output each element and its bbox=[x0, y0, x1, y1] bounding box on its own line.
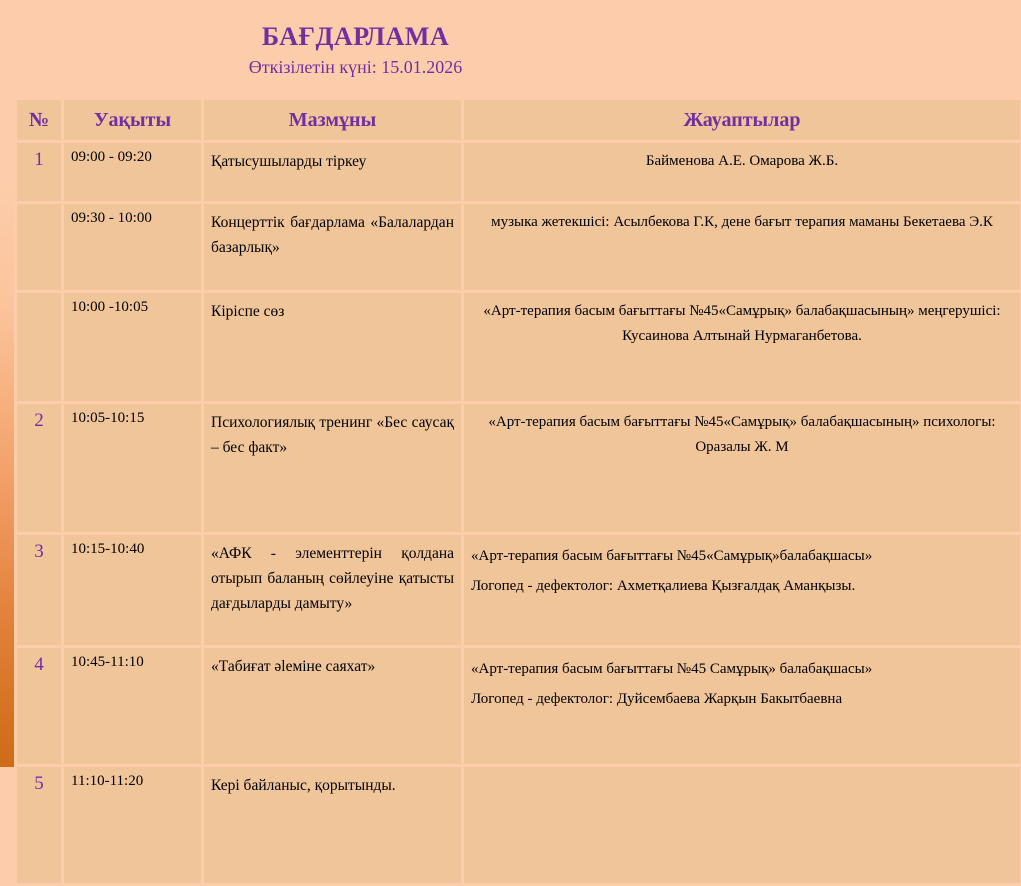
cell-number bbox=[17, 204, 61, 290]
cell-content: Қатысушыларды тіркеу bbox=[204, 143, 461, 201]
cell-time: 10:15-10:40 bbox=[64, 535, 201, 645]
table-row: 3 10:15-10:40 «АФК - элементтерін қолдан… bbox=[17, 535, 1020, 645]
cell-time: 10:05-10:15 bbox=[64, 404, 201, 532]
cell-number: 3 bbox=[17, 535, 61, 645]
cell-content: «АФК - элементтерін қолдана отырып балан… bbox=[204, 535, 461, 645]
cell-responsible: «Арт-терапия басым бағыттағы №45«Самұрық… bbox=[464, 404, 1020, 532]
cell-content: Концерттік бағдарлама «Балалардан базарл… bbox=[204, 204, 461, 290]
cell-responsible: Байменова А.Е. Омарова Ж.Б. bbox=[464, 143, 1020, 201]
column-header-time: Уақыты bbox=[64, 100, 201, 140]
cell-number: 4 bbox=[17, 648, 61, 764]
table-row: 1 09:00 - 09:20 Қатысушыларды тіркеу Бай… bbox=[17, 143, 1020, 201]
cell-number bbox=[17, 293, 61, 401]
page-subtitle: Өткізілетін күні: 15.01.2026 bbox=[0, 56, 1021, 78]
responsible-line: Логопед - дефектолог: Ахметқалиева Қызға… bbox=[471, 571, 1013, 601]
responsible-line: «Арт-терапия басым бағыттағы №45«Самұрық… bbox=[471, 299, 1013, 349]
cell-number: 5 bbox=[17, 767, 61, 883]
cell-time: 10:45-11:10 bbox=[64, 648, 201, 764]
cell-responsible bbox=[464, 767, 1020, 883]
cell-responsible: «Арт-терапия басым бағыттағы №45 Самұрық… bbox=[464, 648, 1020, 764]
cell-time: 10:00 -10:05 bbox=[64, 293, 201, 401]
responsible-line: музыка жетекшісі: Асылбекова Г.К, дене б… bbox=[471, 210, 1013, 235]
slide-canvas: БАҒДАРЛАМА Өткізілетін күні: 15.01.2026 … bbox=[0, 0, 1021, 767]
responsible-line: «Арт-терапия басым бағыттағы №45«Самұрық… bbox=[471, 410, 1013, 460]
responsible-line: «Арт-терапия басым бағыттағы №45«Самұрық… bbox=[471, 541, 1013, 571]
cell-time: 09:30 - 10:00 bbox=[64, 204, 201, 290]
responsible-line: Логопед - дефектолог: Дуйсембаева Жарқын… bbox=[471, 684, 1013, 714]
title-block: БАҒДАРЛАМА Өткізілетін күні: 15.01.2026 bbox=[0, 22, 1021, 78]
page-title: БАҒДАРЛАМА bbox=[0, 22, 1021, 52]
column-header-responsible: Жауаптылар bbox=[464, 100, 1020, 140]
responsible-line: Байменова А.Е. Омарова Ж.Б. bbox=[471, 149, 1013, 174]
cell-content: Кіріспе сөз bbox=[204, 293, 461, 401]
cell-time: 11:10-11:20 bbox=[64, 767, 201, 883]
responsible-line: «Арт-терапия басым бағыттағы №45 Самұрық… bbox=[471, 654, 1013, 684]
cell-number: 2 bbox=[17, 404, 61, 532]
cell-number: 1 bbox=[17, 143, 61, 201]
program-table: № Уақыты Мазмұны Жауаптылар 1 09:00 - 09… bbox=[14, 97, 1021, 886]
table-row: 2 10:05-10:15 Психологиялық тренинг «Бес… bbox=[17, 404, 1020, 532]
table-row: 10:00 -10:05 Кіріспе сөз «Арт-терапия ба… bbox=[17, 293, 1020, 401]
cell-time: 09:00 - 09:20 bbox=[64, 143, 201, 201]
column-header-number: № bbox=[17, 100, 61, 140]
table-row: 09:30 - 10:00 Концерттік бағдарлама «Бал… bbox=[17, 204, 1020, 290]
cell-content: Кері байланыс, қорытынды. bbox=[204, 767, 461, 883]
table-row: 5 11:10-11:20 Кері байланыс, қорытынды. bbox=[17, 767, 1020, 883]
table-header-row: № Уақыты Мазмұны Жауаптылар bbox=[17, 100, 1020, 140]
table-row: 4 10:45-11:10 «Табиғат әleміне саяхат» «… bbox=[17, 648, 1020, 764]
cell-responsible: музыка жетекшісі: Асылбекова Г.К, дене б… bbox=[464, 204, 1020, 290]
cell-content: Психологиялық тренинг «Бес саусақ – бес … bbox=[204, 404, 461, 532]
left-accent-stripe bbox=[0, 0, 14, 767]
cell-responsible: «Арт-терапия басым бағыттағы №45«Самұрық… bbox=[464, 535, 1020, 645]
cell-responsible: «Арт-терапия басым бағыттағы №45«Самұрық… bbox=[464, 293, 1020, 401]
column-header-content: Мазмұны bbox=[204, 100, 461, 140]
cell-content: «Табиғат әleміне саяхат» bbox=[204, 648, 461, 764]
